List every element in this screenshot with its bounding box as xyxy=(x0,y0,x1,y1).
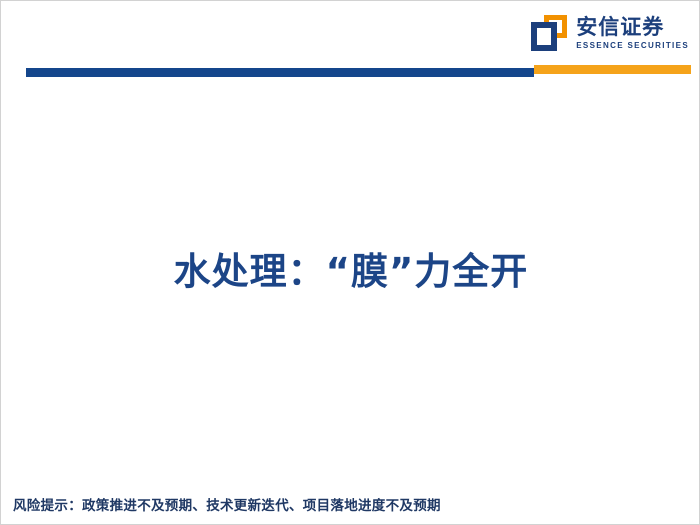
company-name-cn: 安信证券 xyxy=(576,17,689,38)
page-title: 水处理：“膜”力全开 xyxy=(174,241,529,295)
logo-orange-overlap xyxy=(544,15,567,38)
risk-disclosure-note: 风险提示：政策推进不及预期、技术更新迭代、项目落地进度不及预期 xyxy=(13,494,441,514)
presentation-slide: 安信证券 ESSENCE SECURITIES 水处理：“膜”力全开 风险提示：… xyxy=(0,0,700,525)
header-divider-orange xyxy=(534,65,691,74)
brand-lockup: 安信证券 ESSENCE SECURITIES xyxy=(531,15,689,51)
brand-text-block: 安信证券 ESSENCE SECURITIES xyxy=(576,17,689,50)
essence-securities-bracket-logo-icon xyxy=(531,15,567,51)
header-divider-navy xyxy=(26,68,534,77)
company-name-en: ESSENCE SECURITIES xyxy=(576,42,689,50)
title-area: 水处理：“膜”力全开 xyxy=(1,241,700,295)
